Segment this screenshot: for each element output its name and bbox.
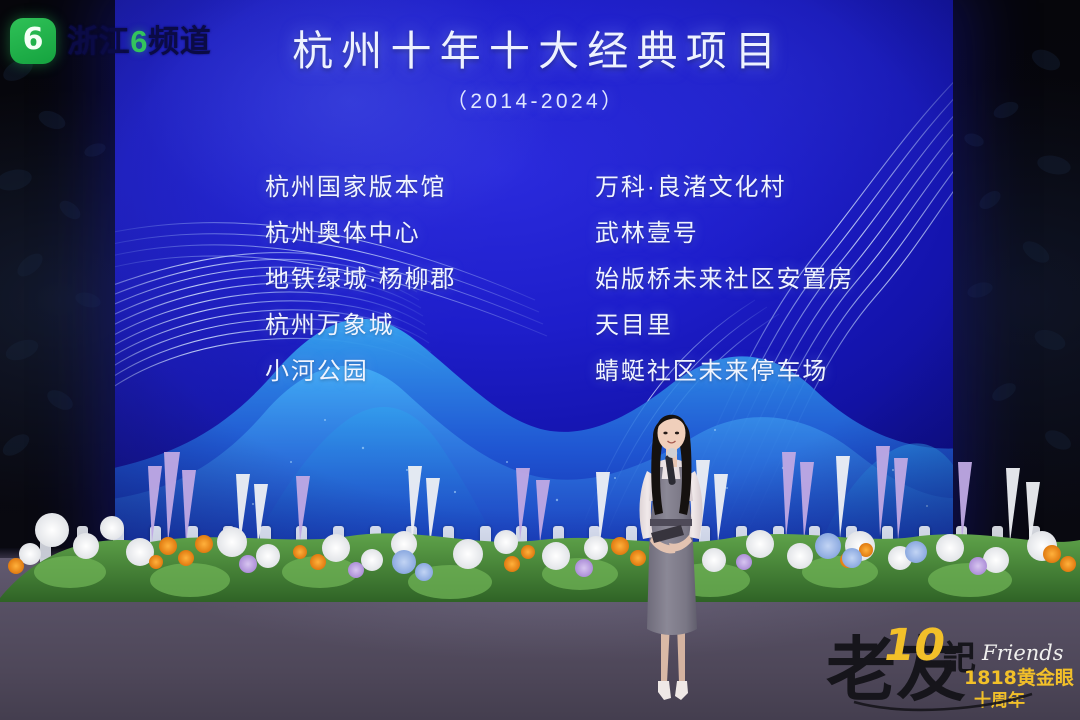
led-screen: 杭州十年十大经典项目 （2014-2024） 杭州国家版本馆 杭州奥体中心 地铁…: [115, 0, 953, 560]
fence-picket: [223, 526, 234, 570]
fence-picket: [296, 526, 307, 570]
fence-picket: [113, 526, 124, 570]
program-watermark: 老友 10 記 Friends 1818黄金眼 十周年: [824, 598, 1074, 716]
stage-photo: 杭州十年十大经典项目 （2014-2024） 杭州国家版本馆 杭州奥体中心 地铁…: [0, 0, 1080, 720]
fence-picket: [40, 526, 51, 570]
fence-picket: [882, 526, 893, 570]
fence-picket: [809, 526, 820, 570]
fence-picket: [553, 526, 564, 570]
watermark-anniversary-number: 10: [879, 620, 949, 671]
presenter-eye-left: [663, 432, 667, 435]
channel-name-suffix: 频道: [148, 24, 211, 59]
project-list-right-column: 万科·良渚文化村 武林壹号 始版桥未来社区安置房 天目里 蜻蜓社区未来停车场: [595, 176, 953, 406]
list-item: 天目里: [595, 314, 953, 338]
fence-picket: [480, 526, 491, 570]
list-item: 小河公园: [265, 360, 595, 384]
fence-picket: [187, 526, 198, 570]
fence-picket: [406, 526, 417, 570]
fence-picket: [1029, 526, 1040, 570]
watermark-tagline: 十周年: [974, 690, 1025, 711]
channel-logo: 6 浙江6频道: [10, 18, 211, 64]
presenter-belt: [650, 519, 692, 526]
presenter-eye-right: [675, 432, 679, 435]
channel-6-icon: 6: [10, 18, 56, 64]
channel-name-six: 6: [130, 24, 148, 59]
channel-logo-text: 浙江6频道: [67, 26, 211, 57]
left-foliage-decor: [0, 0, 120, 520]
screen-title-block: 杭州十年十大经典项目 （2014-2024）: [115, 28, 953, 115]
list-item: 地铁绿城·杨柳郡: [265, 268, 595, 292]
fence-picket: [370, 526, 381, 570]
fence-picket: [77, 526, 88, 570]
channel-name-prefix: 浙江: [67, 24, 130, 59]
fence-picket: [956, 526, 967, 570]
fence-picket: [589, 526, 600, 570]
list-item: 万科·良渚文化村: [595, 176, 953, 200]
channel-logo-mark-text: 6: [23, 25, 44, 55]
list-item: 杭州万象城: [265, 314, 595, 338]
fence-picket: [443, 526, 454, 570]
project-list: 杭州国家版本馆 杭州奥体中心 地铁绿城·杨柳郡 杭州万象城 小河公园 万科·良渚…: [265, 176, 953, 406]
list-item: 武林壹号: [595, 222, 953, 246]
list-item: 杭州国家版本馆: [265, 176, 595, 200]
led-background-graphics: [115, 0, 953, 560]
page-subtitle: （2014-2024）: [115, 85, 953, 115]
fence-picket: [150, 526, 161, 570]
led-screen-vignette: [115, 0, 953, 560]
list-item: 蜻蜓社区未来停车场: [595, 360, 953, 384]
fence-picket: [333, 526, 344, 570]
led-screen-glow: [115, 0, 953, 560]
fence-picket: [773, 526, 784, 570]
mountain-layer-back: [115, 319, 953, 560]
list-item: 杭州奥体中心: [265, 222, 595, 246]
watermark-program-name: 1818黄金眼: [964, 666, 1074, 689]
fence-picket: [260, 526, 271, 570]
presenter-shoe-right: [675, 681, 688, 700]
fence-picket: [919, 526, 930, 570]
page-title: 杭州十年十大经典项目: [115, 28, 953, 75]
fence-picket: [846, 526, 857, 570]
picket-fence: [40, 526, 1040, 570]
fence-picket: [992, 526, 1003, 570]
project-list-left-column: 杭州国家版本馆 杭州奥体中心 地铁绿城·杨柳郡 杭州万象城 小河公园: [265, 176, 595, 406]
presenter: [617, 393, 725, 708]
list-item: 始版桥未来社区安置房: [595, 268, 953, 292]
right-foliage-decor: [950, 0, 1080, 520]
fence-picket: [736, 526, 747, 570]
watermark-english-title: Friends: [981, 641, 1064, 665]
fence-picket: [516, 526, 527, 570]
microphone-head: [667, 448, 677, 458]
presenter-shoe-left: [658, 681, 671, 700]
